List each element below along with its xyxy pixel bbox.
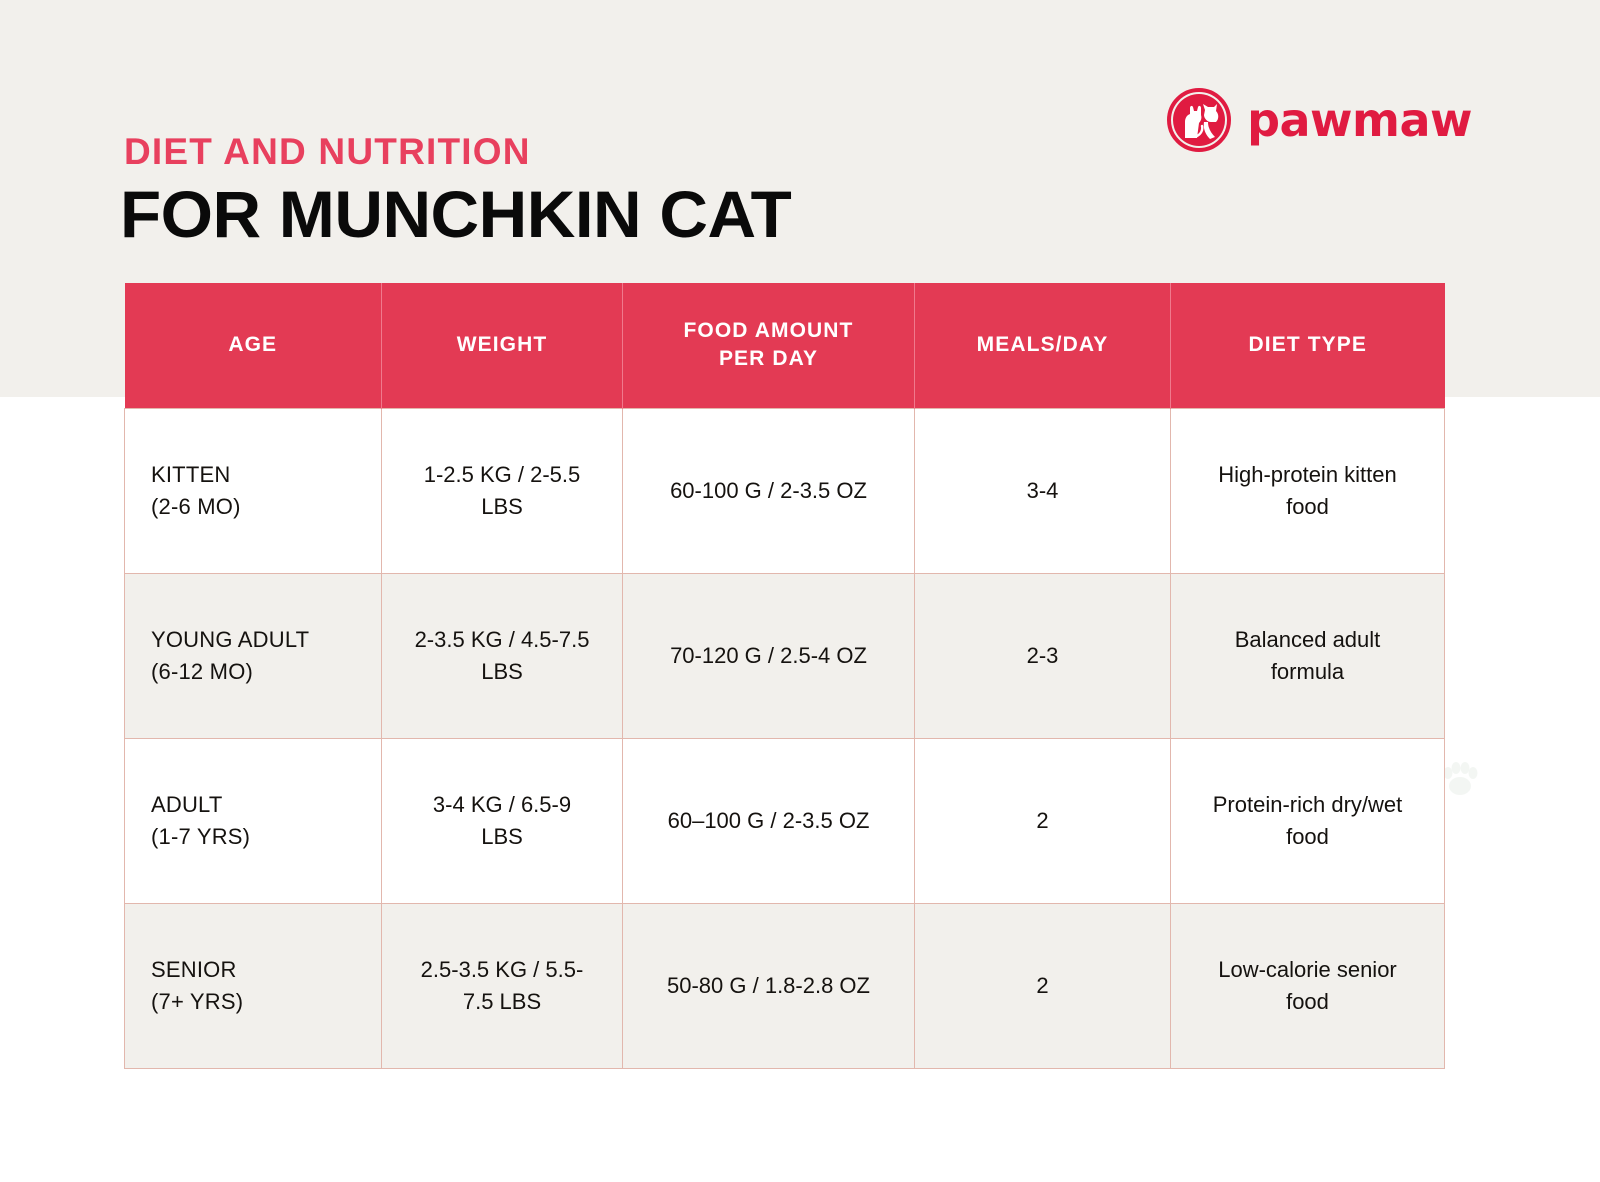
weight-line1: 2-3.5 KG / 4.5-7.5	[396, 624, 608, 655]
column-header-weight: WEIGHT	[382, 283, 623, 408]
age-name: ADULT	[151, 789, 367, 820]
cell-weight: 3-4 KG / 6.5-9 LBS	[382, 738, 623, 903]
cell-diet-type: Protein-rich dry/wet food	[1171, 738, 1445, 903]
cell-age: KITTEN (2-6 MO)	[125, 408, 382, 573]
infographic-page: DIET AND NUTRITION FOR MUNCHKIN CAT pawm…	[0, 0, 1600, 1182]
diet-line2: food	[1185, 491, 1430, 522]
cell-meals-per-day: 2	[915, 903, 1171, 1068]
cell-age: ADULT (1-7 YRS)	[125, 738, 382, 903]
cell-diet-type: Balanced adult formula	[1171, 573, 1445, 738]
weight-line1: 2.5-3.5 KG / 5.5-	[396, 954, 608, 985]
weight-line2: LBS	[396, 491, 608, 522]
weight-line2: 7.5 LBS	[396, 986, 608, 1017]
column-header-age-line1: AGE	[125, 331, 382, 359]
age-name: SENIOR	[151, 954, 367, 985]
age-range: (1-7 YRS)	[151, 821, 367, 852]
table-body: KITTEN (2-6 MO) 1-2.5 KG / 2-5.5 LBS 60-…	[125, 408, 1445, 1068]
table-row: SENIOR (7+ YRS) 2.5-3.5 KG / 5.5- 7.5 LB…	[125, 903, 1445, 1068]
column-header-food-amount: FOOD AMOUNT PER DAY	[623, 283, 915, 408]
column-header-food-line1: FOOD AMOUNT	[623, 317, 914, 345]
pawmaw-dog-badge-icon	[1167, 88, 1231, 152]
diet-line2: food	[1185, 821, 1430, 852]
cell-meals-per-day: 3-4	[915, 408, 1171, 573]
age-range: (2-6 MO)	[151, 491, 367, 522]
age-name: YOUNG ADULT	[151, 624, 367, 655]
cell-age: YOUNG ADULT (6-12 MO)	[125, 573, 382, 738]
column-header-meals-per-day: MEALS/DAY	[915, 283, 1171, 408]
diet-line2: food	[1185, 986, 1430, 1017]
diet-line1: High-protein kitten	[1185, 459, 1430, 490]
weight-line2: LBS	[396, 656, 608, 687]
cell-food-amount: 60-100 G / 2-3.5 OZ	[623, 408, 915, 573]
cell-meals-per-day: 2	[915, 738, 1171, 903]
age-range: (6-12 MO)	[151, 656, 367, 687]
table-row: KITTEN (2-6 MO) 1-2.5 KG / 2-5.5 LBS 60-…	[125, 408, 1445, 573]
weight-line2: LBS	[396, 821, 608, 852]
table-header: AGE WEIGHT FOOD AMOUNT PER DAY MEALS/DAY…	[125, 283, 1445, 408]
cell-weight: 1-2.5 KG / 2-5.5 LBS	[382, 408, 623, 573]
brand-logo[interactable]: pawmaw	[1167, 88, 1472, 152]
cell-food-amount: 50-80 G / 1.8-2.8 OZ	[623, 903, 915, 1068]
column-header-meals-line1: MEALS/DAY	[915, 331, 1170, 359]
eyebrow-label: DIET AND NUTRITION	[124, 131, 531, 173]
cell-diet-type: High-protein kitten food	[1171, 408, 1445, 573]
table-row: ADULT (1-7 YRS) 3-4 KG / 6.5-9 LBS 60–10…	[125, 738, 1445, 903]
table-header-row: AGE WEIGHT FOOD AMOUNT PER DAY MEALS/DAY…	[125, 283, 1445, 408]
cell-food-amount: 60–100 G / 2-3.5 OZ	[623, 738, 915, 903]
weight-line1: 1-2.5 KG / 2-5.5	[396, 459, 608, 490]
page-title: FOR MUNCHKIN CAT	[120, 176, 791, 252]
column-header-weight-line1: WEIGHT	[382, 331, 622, 359]
brand-wordmark: pawmaw	[1247, 93, 1472, 147]
cell-weight: 2.5-3.5 KG / 5.5- 7.5 LBS	[382, 903, 623, 1068]
diet-line1: Low-calorie senior	[1185, 954, 1430, 985]
weight-line1: 3-4 KG / 6.5-9	[396, 789, 608, 820]
diet-line1: Protein-rich dry/wet	[1185, 789, 1430, 820]
cell-diet-type: Low-calorie senior food	[1171, 903, 1445, 1068]
age-range: (7+ YRS)	[151, 986, 367, 1017]
diet-line1: Balanced adult	[1185, 624, 1430, 655]
age-name: KITTEN	[151, 459, 367, 490]
column-header-diet-line1: DIET TYPE	[1171, 331, 1445, 359]
cell-weight: 2-3.5 KG / 4.5-7.5 LBS	[382, 573, 623, 738]
cell-food-amount: 70-120 G / 2.5-4 OZ	[623, 573, 915, 738]
cell-meals-per-day: 2-3	[915, 573, 1171, 738]
column-header-age: AGE	[125, 283, 382, 408]
diet-line2: formula	[1185, 656, 1430, 687]
column-header-diet-type: DIET TYPE	[1171, 283, 1445, 408]
cell-age: SENIOR (7+ YRS)	[125, 903, 382, 1068]
column-header-food-line2: PER DAY	[623, 345, 914, 373]
table-row: YOUNG ADULT (6-12 MO) 2-3.5 KG / 4.5-7.5…	[125, 573, 1445, 738]
diet-nutrition-table: AGE WEIGHT FOOD AMOUNT PER DAY MEALS/DAY…	[124, 283, 1445, 1069]
